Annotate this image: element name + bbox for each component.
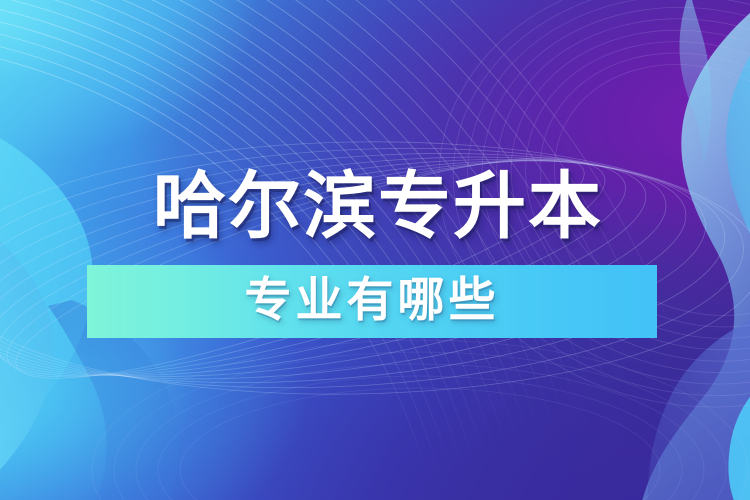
promo-banner: 哈尔滨专升本 专业有哪些 [0,0,750,500]
subtitle-ribbon: 专业有哪些 [87,265,657,338]
banner-subtitle: 专业有哪些 [245,277,500,324]
banner-headline: 哈尔滨专升本 [153,170,603,243]
headline-block: 哈尔滨专升本 [0,156,750,256]
